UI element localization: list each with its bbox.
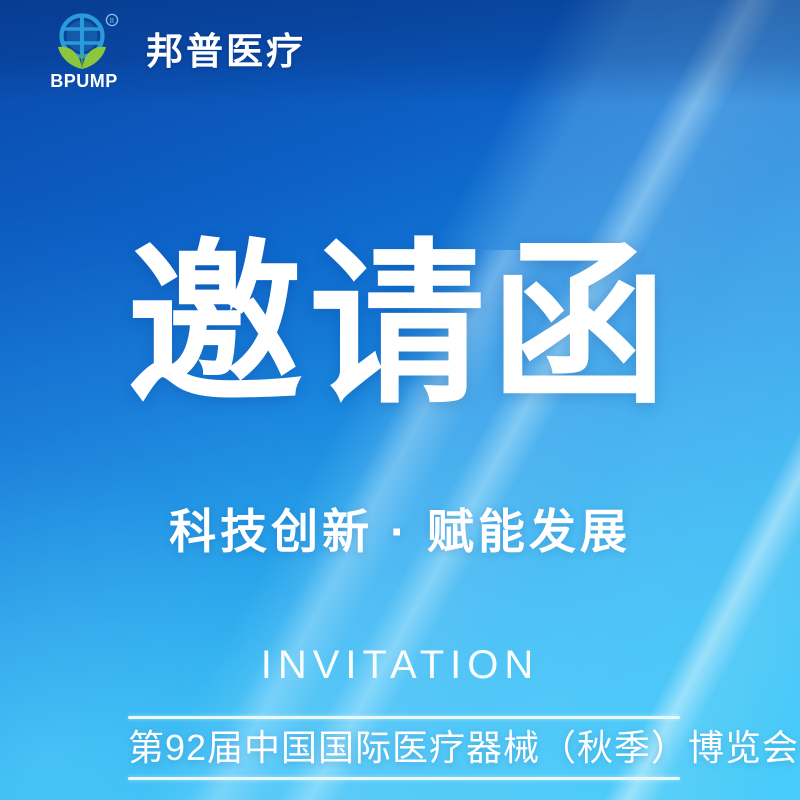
page-title: 邀请函 — [0, 238, 800, 414]
divider-line-bottom — [128, 777, 680, 780]
invitation-poster: R BPUMP 邦普医疗 邀请函 科技创新 · 赋能发展 INVITATION … — [0, 0, 800, 800]
logo-wordmark: BPUMP — [50, 71, 118, 91]
svg-text:R: R — [110, 17, 115, 25]
invitation-subtitle: INVITATION — [0, 645, 800, 685]
event-name: 第92届中国国际医疗器械（秋季）博览会 — [128, 719, 680, 777]
slogan-text: 科技创新 · 赋能发展 — [0, 508, 800, 555]
brand-header: R BPUMP 邦普医疗 — [46, 8, 306, 94]
bpump-globe-leaves-logo-icon: R BPUMP — [46, 11, 124, 91]
brand-name: 邦普医疗 — [146, 33, 306, 70]
event-banner: 第92届中国国际医疗器械（秋季）博览会 — [128, 716, 680, 780]
